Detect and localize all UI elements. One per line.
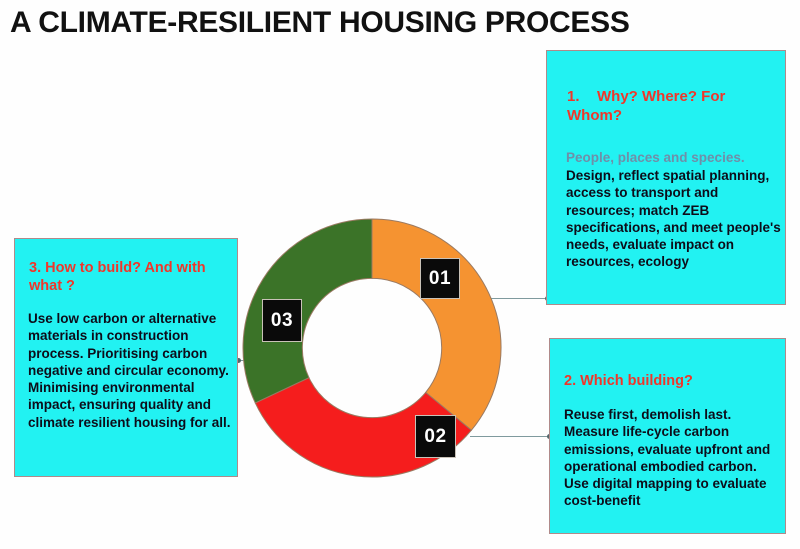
box1-subline: People, places and species. bbox=[566, 149, 781, 166]
page-title: A CLIMATE-RESILIENT HOUSING PROCESS bbox=[10, 6, 710, 40]
badge-02: 02 bbox=[415, 415, 456, 458]
info-box-which-building[interactable]: 2. Which building? Reuse first, demolish… bbox=[549, 338, 786, 534]
box1-body: Design, reflect spatial planning, access… bbox=[566, 167, 784, 271]
box3-body: Use low carbon or alternative materials … bbox=[28, 310, 240, 431]
donut-chart bbox=[241, 217, 503, 481]
box1-heading: 1.Why? Where? For Whom? bbox=[567, 88, 767, 126]
box3-heading: 3. How to build? And with what ? bbox=[29, 259, 229, 295]
info-box-why-where-for-whom[interactable]: 1.Why? Where? For Whom? People, places a… bbox=[546, 50, 786, 305]
box2-body: Reuse first, demolish last. Measure life… bbox=[564, 406, 780, 510]
box2-heading: 2. Which building? bbox=[564, 372, 693, 390]
info-box-how-to-build[interactable]: 3. How to build? And with what ? Use low… bbox=[14, 238, 238, 477]
slide-canvas: A CLIMATE-RESILIENT HOUSING PROCESS 01 0… bbox=[0, 0, 800, 549]
badge-03: 03 bbox=[262, 299, 302, 342]
badge-01: 01 bbox=[420, 258, 460, 299]
donut-segment-01 bbox=[372, 219, 501, 430]
box1-number: 1. bbox=[567, 88, 597, 107]
donut-chart-svg bbox=[241, 217, 503, 481]
